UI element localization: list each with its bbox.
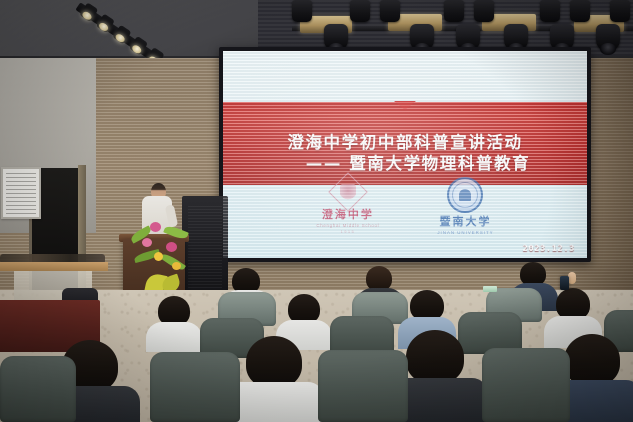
- auditorium-seat: [482, 348, 570, 422]
- stage-spotlight-icon: [350, 0, 370, 22]
- moving-head-light-icon: [596, 24, 620, 52]
- slide-surface: 澄海中学初中部科普宣讲活动 —— 暨南大学物理科普教育 2023.12.3 澄海…: [223, 51, 587, 258]
- phone-camera: [560, 276, 569, 290]
- flower-bloom: [142, 238, 152, 247]
- projection-screen: 澄海中学初中部科普宣讲活动 —— 暨南大学物理科普教育 2023.12.3 澄海…: [219, 47, 591, 262]
- stage-spotlight-icon: [570, 0, 590, 22]
- slide-date: 2023.12.3: [523, 244, 575, 254]
- auditorium-photo: 澄海中学初中部科普宣讲活动 —— 暨南大学物理科普教育 2023.12.3 澄海…: [0, 0, 633, 422]
- slide-title-line-1: 澄海中学初中部科普宣讲活动: [287, 134, 522, 153]
- stage-spotlight-icon: [474, 0, 494, 22]
- floral-arrangement: [128, 218, 190, 293]
- stage-spotlight-icon: [610, 0, 630, 22]
- auditorium-seat: [318, 350, 408, 422]
- leaf: [163, 224, 189, 241]
- flower-bloom: [172, 262, 181, 270]
- wall-notice-board: [1, 167, 41, 219]
- flower-bloom: [166, 242, 177, 252]
- audience-shoulders: [146, 322, 202, 352]
- audience-head: [246, 336, 302, 388]
- flower-bloom: [150, 222, 161, 232]
- audience-head: [564, 334, 620, 386]
- slide-title-line-2: —— 暨南大学物理科普教育: [280, 153, 531, 175]
- audience-head: [406, 330, 464, 384]
- stage-spotlight-icon: [380, 0, 400, 22]
- stage-spotlight-icon: [444, 0, 464, 22]
- notice-board-text-lines: [6, 173, 36, 214]
- side-table-top: [0, 262, 108, 271]
- raised-hand: [568, 272, 576, 284]
- stage-spotlight-icon: [292, 0, 312, 22]
- stage-spotlight-icon: [540, 0, 560, 22]
- auditorium-seat: [150, 352, 240, 422]
- auditorium-seat: [0, 356, 76, 422]
- handout-booklet: [483, 286, 497, 292]
- slide-title-block: 澄海中学初中部科普宣讲活动 —— 暨南大学物理科普教育: [223, 51, 587, 258]
- flower-bloom: [154, 252, 163, 261]
